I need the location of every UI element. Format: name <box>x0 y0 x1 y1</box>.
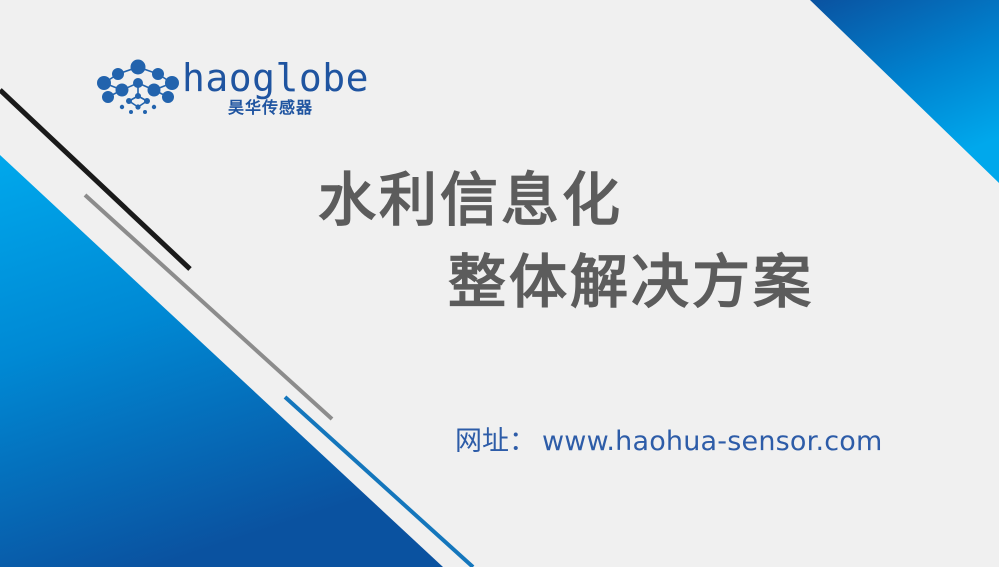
website-row: 网址： www.haohua-sensor.com <box>455 419 883 458</box>
network-dots-logo-icon <box>96 59 180 115</box>
logo-wordmark: haoglobe <box>182 57 369 99</box>
logo-subtitle: 昊华传感器 <box>228 99 313 119</box>
title-line-1: 水利信息化 <box>0 160 999 242</box>
presentation-title-slide: haoglobe 昊华传感器 水利信息化 整体解决方案 网址： www.haoh… <box>0 0 999 567</box>
page-title: 水利信息化 整体解决方案 <box>0 160 999 324</box>
right-gradient-triangle <box>810 0 999 183</box>
company-logo: haoglobe 昊华传感器 <box>96 57 326 123</box>
title-line-2: 整体解决方案 <box>0 242 999 324</box>
website-label: 网址： <box>455 419 536 458</box>
website-url[interactable]: www.haohua-sensor.com <box>542 426 883 457</box>
